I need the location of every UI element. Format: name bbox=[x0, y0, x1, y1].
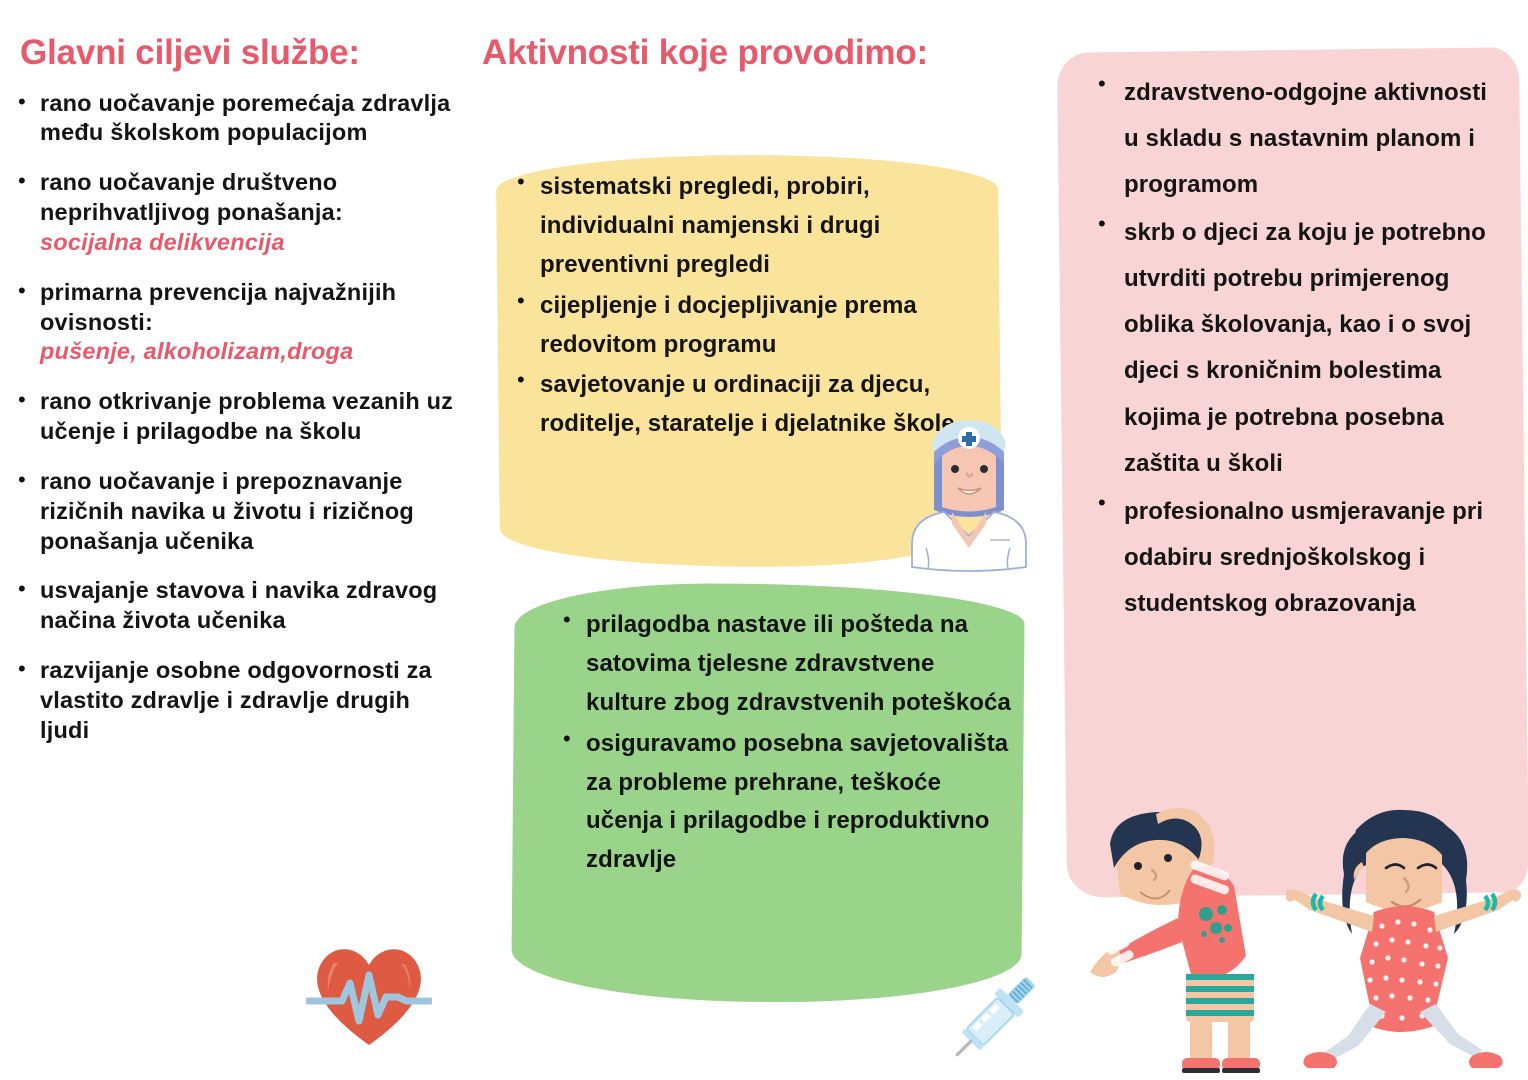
list-item: osiguravamo posebna savjetovališta za pr… bbox=[558, 725, 1018, 881]
pink-panel-list: zdravstveno-odgojne aktivnosti u skladu … bbox=[1092, 70, 1492, 629]
list-item: sistematski pregledi, probiri, individua… bbox=[512, 168, 972, 285]
list-item: profesionalno usmjeravanje pri odabiru s… bbox=[1092, 489, 1492, 627]
list-item: rano uočavanje poremećaja zdravlja među … bbox=[14, 89, 462, 149]
goals-item-text: primarna prevencija najvažnijih ovisnost… bbox=[40, 278, 462, 338]
green-panel-list: prilagodba nastave ili pošteda na satovi… bbox=[558, 606, 1018, 882]
pink-item-text: skrb o djeci za koju je potrebno utvrdit… bbox=[1124, 210, 1492, 486]
stretching-boy-icon bbox=[1086, 806, 1286, 1080]
list-item: rano otkrivanje problema vezanih uz učen… bbox=[14, 387, 462, 447]
infographic-poster: Glavni ciljevi službe: rano uočavanje po… bbox=[0, 0, 1528, 1080]
pink-item-text: zdravstveno-odgojne aktivnosti u skladu … bbox=[1124, 70, 1492, 208]
green-item-text: prilagodba nastave ili pošteda na satovi… bbox=[586, 606, 1018, 723]
activities-column: Aktivnosti koje provodimo: bbox=[478, 34, 1053, 73]
pink-item-text: profesionalno usmjeravanje pri odabiru s… bbox=[1124, 489, 1492, 627]
list-item: rano uočavanje društveno neprihvatljivog… bbox=[14, 168, 462, 258]
nurse-icon bbox=[904, 412, 1034, 572]
goals-item-text: rano uočavanje društveno neprihvatljivog… bbox=[40, 168, 462, 228]
syringe-icon bbox=[935, 962, 1053, 1074]
list-item: prilagodba nastave ili pošteda na satovi… bbox=[558, 606, 1018, 723]
yellow-item-text: sistematski pregledi, probiri, individua… bbox=[540, 168, 972, 285]
goals-item-text: rano uočavanje i prepoznavanje rizičnih … bbox=[40, 467, 462, 557]
list-item: skrb o djeci za koju je potrebno utvrdit… bbox=[1092, 210, 1492, 486]
goals-heading: Glavni ciljevi službe: bbox=[20, 34, 462, 73]
goals-column: Glavni ciljevi službe: rano uočavanje po… bbox=[14, 34, 462, 766]
yellow-item-text: cijepljenje i docjepljivanje prema redov… bbox=[540, 287, 972, 365]
stretching-girl-icon bbox=[1286, 806, 1521, 1080]
goals-item-accent: socijalna delikvencija bbox=[40, 228, 462, 258]
activities-heading: Aktivnosti koje provodimo: bbox=[482, 34, 1053, 73]
goals-item-text: rano otkrivanje problema vezanih uz učen… bbox=[40, 387, 462, 447]
list-item: primarna prevencija najvažnijih ovisnost… bbox=[14, 278, 462, 368]
goals-item-text: usvajanje stavova i navika zdravog način… bbox=[40, 576, 462, 636]
green-item-text: osiguravamo posebna savjetovališta za pr… bbox=[586, 725, 1018, 881]
list-item: usvajanje stavova i navika zdravog način… bbox=[14, 576, 462, 636]
list-item: cijepljenje i docjepljivanje prema redov… bbox=[512, 287, 972, 365]
list-item: savjetovanje u ordinaciji za djecu, rodi… bbox=[512, 366, 972, 444]
yellow-panel-list: sistematski pregledi, probiri, individua… bbox=[512, 168, 972, 446]
list-item: rano uočavanje i prepoznavanje rizičnih … bbox=[14, 467, 462, 557]
list-item: razvijanje osobne odgovornosti za vlasti… bbox=[14, 656, 462, 746]
goals-item-text: razvijanje osobne odgovornosti za vlasti… bbox=[40, 656, 462, 746]
goals-item-text: rano uočavanje poremećaja zdravlja među … bbox=[40, 89, 462, 149]
goals-list: rano uočavanje poremećaja zdravlja među … bbox=[14, 89, 462, 746]
heart-ekg-icon bbox=[306, 935, 432, 1053]
list-item: zdravstveno-odgojne aktivnosti u skladu … bbox=[1092, 70, 1492, 208]
goals-item-accent: pušenje, alkoholizam,droga bbox=[40, 337, 462, 367]
